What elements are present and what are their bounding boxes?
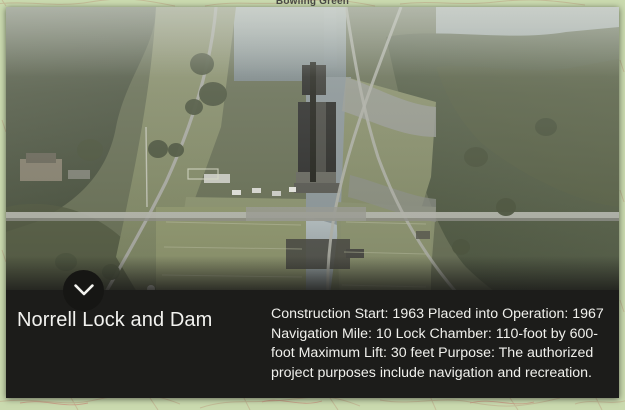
collapse-toggle-button[interactable]	[63, 270, 104, 311]
location-info-popup: Norrell Lock and Dam Construction Start:…	[6, 7, 619, 398]
popup-title: Norrell Lock and Dam	[6, 290, 260, 332]
popup-description: Construction Start: 1963 Placed into Ope…	[260, 290, 619, 383]
map-place-label: Bowling Green	[0, 0, 625, 7]
chevron-down-icon	[74, 284, 94, 297]
caption-bar: Norrell Lock and Dam Construction Start:…	[6, 290, 619, 398]
